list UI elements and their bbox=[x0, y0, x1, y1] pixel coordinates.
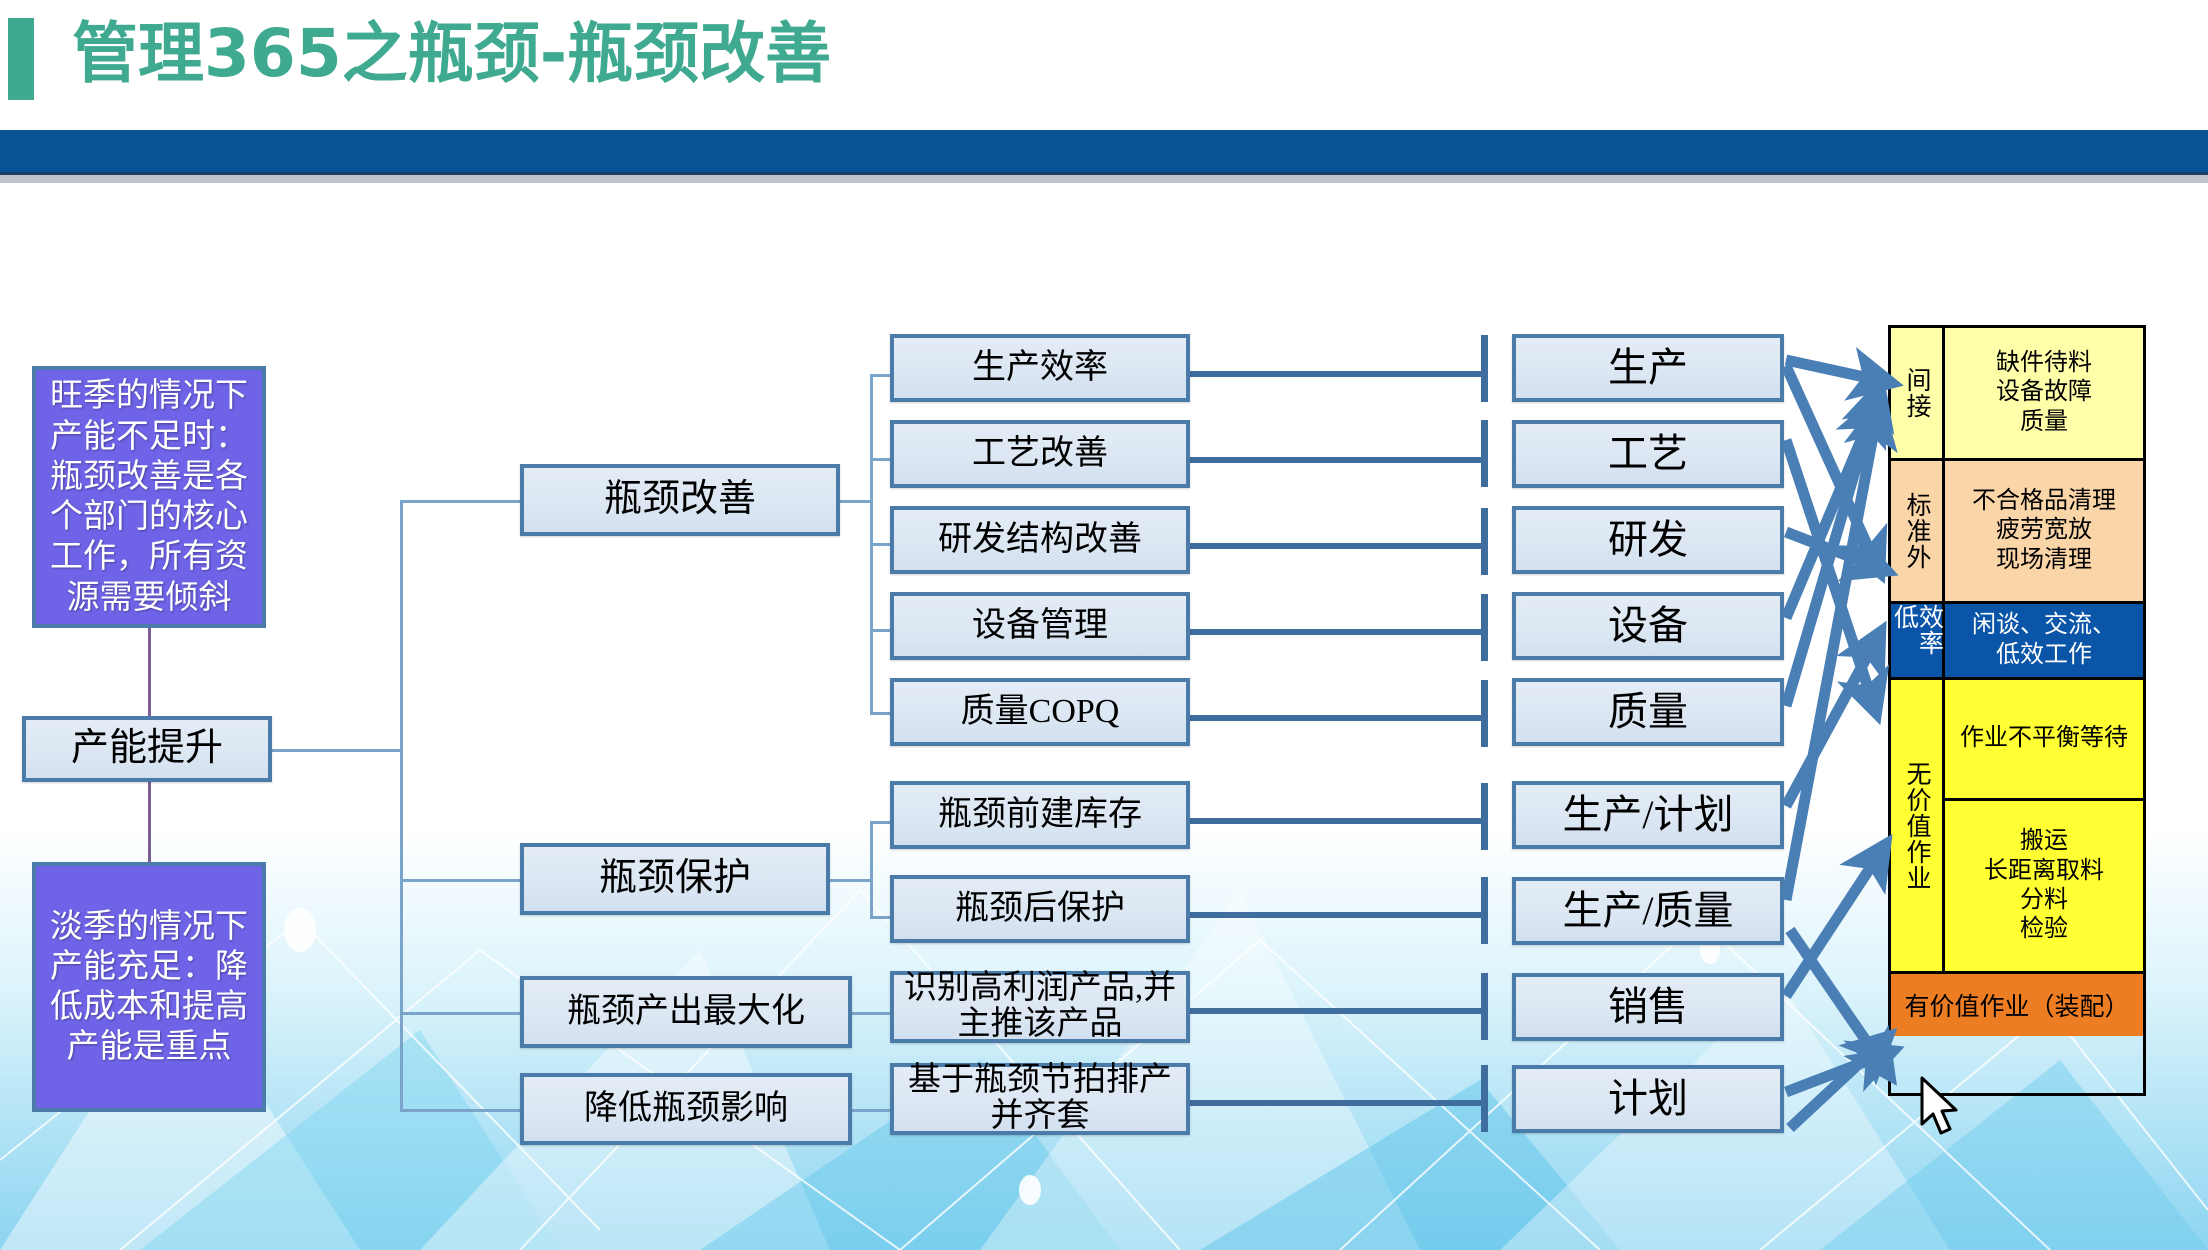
action-label-9: 基于瓶颈节拍排产并齐套 bbox=[894, 1063, 1186, 1134]
arrow-planning-to-valueadded bbox=[1786, 1056, 1880, 1092]
waste-row-category-2: 标准外 bbox=[1891, 461, 1945, 601]
bracket-v-2 bbox=[1481, 420, 1488, 487]
arrow-prodquality-to-novalue bbox=[1786, 420, 1876, 900]
dept-label-7: 生产/质量 bbox=[1558, 889, 1737, 932]
header-bar-gray-line bbox=[0, 175, 2208, 183]
bracket-h-4 bbox=[1190, 629, 1483, 635]
arrow-process-to-lowefficiency bbox=[1786, 440, 1872, 700]
connector-spine-branch4 bbox=[400, 1109, 520, 1112]
arrow-extra-to-novalue-2 bbox=[1790, 1046, 1878, 1128]
bracket-v-6 bbox=[1481, 783, 1488, 850]
connector-b2-spine bbox=[870, 821, 873, 919]
bracket-v-7 bbox=[1481, 877, 1488, 944]
bracket-h-7 bbox=[1190, 912, 1483, 918]
dept-quality[interactable]: 质量 bbox=[1512, 678, 1784, 746]
bracket-h-8 bbox=[1190, 1008, 1483, 1014]
peak-season-note-label: 旺季的情况下产能不足时：瓶颈改善是各个部门的核心工作，所有资源需要倾斜 bbox=[36, 376, 262, 618]
root-node-label: 产能提升 bbox=[67, 728, 227, 769]
action-identify-high-margin-products[interactable]: 识别高利润产品,并主推该产品 bbox=[890, 971, 1190, 1043]
branch-bottleneck-output-max[interactable]: 瓶颈产出最大化 bbox=[520, 976, 852, 1048]
waste-row-items-3: 闲谈、交流、低效工作 bbox=[1945, 604, 2143, 677]
branch-bottleneck-protection[interactable]: 瓶颈保护 bbox=[520, 843, 830, 915]
action-label-5: 质量COPQ bbox=[957, 694, 1124, 731]
dept-label-4: 设备 bbox=[1604, 604, 1692, 647]
bracket-v-5 bbox=[1481, 680, 1488, 747]
dept-label-3: 研发 bbox=[1604, 518, 1692, 561]
dept-production[interactable]: 生产 bbox=[1512, 334, 1784, 402]
waste-row-indirect[interactable]: 间接 缺件待料设备故障质量 bbox=[1891, 328, 2143, 461]
dept-process[interactable]: 工艺 bbox=[1512, 420, 1784, 488]
dept-label-6: 生产/计划 bbox=[1558, 793, 1737, 836]
arrow-quality-to-indirect bbox=[1786, 400, 1876, 706]
dept-label-8: 销售 bbox=[1604, 985, 1692, 1028]
branch-label-2: 瓶颈保护 bbox=[595, 858, 755, 899]
bracket-h-9 bbox=[1190, 1100, 1483, 1106]
arrow-equipment-to-indirect bbox=[1786, 414, 1872, 618]
action-process-improvement[interactable]: 工艺改善 bbox=[890, 420, 1190, 488]
action-schedule-by-bottleneck-takt[interactable]: 基于瓶颈节拍排产并齐套 bbox=[890, 1063, 1190, 1135]
dept-rd[interactable]: 研发 bbox=[1512, 506, 1784, 574]
bracket-h-1 bbox=[1190, 371, 1483, 377]
action-pre-bottleneck-inventory[interactable]: 瓶颈前建库存 bbox=[890, 781, 1190, 849]
bracket-h-5 bbox=[1190, 715, 1483, 721]
dept-label-5: 质量 bbox=[1604, 690, 1692, 733]
branch-bottleneck-improvement[interactable]: 瓶颈改善 bbox=[520, 464, 840, 536]
action-production-efficiency[interactable]: 生产效率 bbox=[890, 334, 1190, 402]
arrow-production-to-indirect bbox=[1786, 360, 1878, 380]
waste-row-category-4: 无价值作业 bbox=[1891, 680, 1945, 971]
connector-note1-root bbox=[148, 627, 151, 728]
action-label-7: 瓶颈后保护 bbox=[951, 891, 1129, 928]
arrow-rd-to-nonstandard bbox=[1786, 532, 1874, 566]
waste-category-table: 间接 缺件待料设备故障质量 标准外 不合格品清理疲劳宽放现场清理 效率低 闲谈、… bbox=[1888, 325, 2146, 1096]
dept-label-2: 工艺 bbox=[1604, 432, 1692, 475]
connector-main-spine bbox=[400, 500, 403, 1112]
mouse-pointer-icon bbox=[1918, 1076, 1964, 1138]
connector-b2-out bbox=[830, 879, 872, 882]
branch-label-1: 瓶颈改善 bbox=[600, 479, 760, 520]
action-rd-structure-improvement[interactable]: 研发结构改善 bbox=[890, 506, 1190, 574]
low-season-note: 淡季的情况下产能充足：降低成本和提高产能是重点 bbox=[32, 862, 266, 1112]
action-equipment-management[interactable]: 设备管理 bbox=[890, 592, 1190, 660]
action-label-2: 工艺改善 bbox=[968, 436, 1112, 473]
waste-row-low-efficiency[interactable]: 效率低 闲谈、交流、低效工作 bbox=[1891, 604, 2143, 680]
waste-row-no-value-work[interactable]: 无价值作业 作业不平衡等待 搬运长距离取料分料检验 bbox=[1891, 680, 2143, 974]
branch-label-4: 降低瓶颈影响 bbox=[580, 1091, 792, 1128]
page-title: 管理365之瓶颈-瓶颈改善 bbox=[72, 4, 831, 104]
dept-equipment[interactable]: 设备 bbox=[1512, 592, 1784, 660]
action-label-1: 生产效率 bbox=[968, 350, 1112, 387]
connector-root-out bbox=[272, 749, 402, 752]
waste-row-items-4a: 作业不平衡等待 bbox=[1945, 680, 2143, 798]
waste-row-category-3: 效率低 bbox=[1891, 604, 1945, 677]
branch-label-3: 瓶颈产出最大化 bbox=[563, 994, 809, 1031]
slide-canvas: 管理365之瓶颈-瓶颈改善 旺季的情况下产能不足时：瓶颈改善是各个部门 bbox=[0, 0, 2208, 1250]
bracket-v-4 bbox=[1481, 594, 1488, 661]
title-accent-bar bbox=[8, 18, 34, 100]
peak-season-note: 旺季的情况下产能不足时：瓶颈改善是各个部门的核心工作，所有资源需要倾斜 bbox=[32, 366, 266, 628]
action-label-6: 瓶颈前建库存 bbox=[934, 797, 1146, 834]
arrow-prodplan-to-novalue bbox=[1786, 644, 1874, 806]
waste-row-items-4b: 搬运长距离取料分料检验 bbox=[1945, 798, 2143, 971]
low-season-note-label: 淡季的情况下产能充足：降低成本和提高产能是重点 bbox=[36, 907, 262, 1068]
dept-production-quality[interactable]: 生产/质量 bbox=[1512, 877, 1784, 945]
action-label-8: 识别高利润产品,并主推该产品 bbox=[894, 971, 1186, 1042]
header-bar bbox=[0, 130, 2208, 172]
action-post-bottleneck-protection[interactable]: 瓶颈后保护 bbox=[890, 875, 1190, 943]
action-label-3: 研发结构改善 bbox=[934, 522, 1146, 559]
waste-row-items-1: 缺件待料设备故障质量 bbox=[1945, 328, 2143, 458]
action-label-4: 设备管理 bbox=[968, 608, 1112, 645]
waste-row-nonstandard[interactable]: 标准外 不合格品清理疲劳宽放现场清理 bbox=[1891, 461, 2143, 604]
connector-spine-branch2 bbox=[400, 879, 520, 882]
arrow-extra-to-valueadded bbox=[1790, 930, 1882, 1064]
dept-planning[interactable]: 计划 bbox=[1512, 1065, 1784, 1133]
waste-row-category-1: 间接 bbox=[1891, 328, 1945, 458]
arrow-production-to-nonstandard bbox=[1786, 366, 1874, 560]
bracket-v-3 bbox=[1481, 508, 1488, 575]
bracket-v-1 bbox=[1481, 335, 1488, 402]
connector-spine-branch3 bbox=[400, 1012, 520, 1015]
root-node-capacity-improvement[interactable]: 产能提升 bbox=[22, 716, 272, 782]
dept-label-9: 计划 bbox=[1604, 1077, 1692, 1120]
action-quality-copq[interactable]: 质量COPQ bbox=[890, 678, 1190, 746]
dept-label-1: 生产 bbox=[1604, 346, 1692, 389]
connector-root-note2 bbox=[148, 775, 151, 865]
bracket-h-6 bbox=[1190, 818, 1483, 824]
connector-b1-out bbox=[840, 500, 872, 503]
bracket-v-9 bbox=[1481, 1065, 1488, 1132]
bracket-v-8 bbox=[1481, 973, 1488, 1040]
branch-reduce-bottleneck-impact[interactable]: 降低瓶颈影响 bbox=[520, 1073, 852, 1145]
connector-spine-branch1 bbox=[400, 500, 520, 503]
waste-row-items-5: 有价值作业（装配） bbox=[1891, 974, 2143, 1036]
arrow-sales-to-novalue bbox=[1786, 856, 1878, 996]
bracket-h-2 bbox=[1190, 457, 1483, 463]
dept-sales[interactable]: 销售 bbox=[1512, 973, 1784, 1041]
bracket-h-3 bbox=[1190, 543, 1483, 549]
waste-row-items-2: 不合格品清理疲劳宽放现场清理 bbox=[1945, 461, 2143, 601]
dept-production-planning[interactable]: 生产/计划 bbox=[1512, 781, 1784, 849]
waste-row-value-added[interactable]: 有价值作业（装配） bbox=[1891, 974, 2143, 1036]
